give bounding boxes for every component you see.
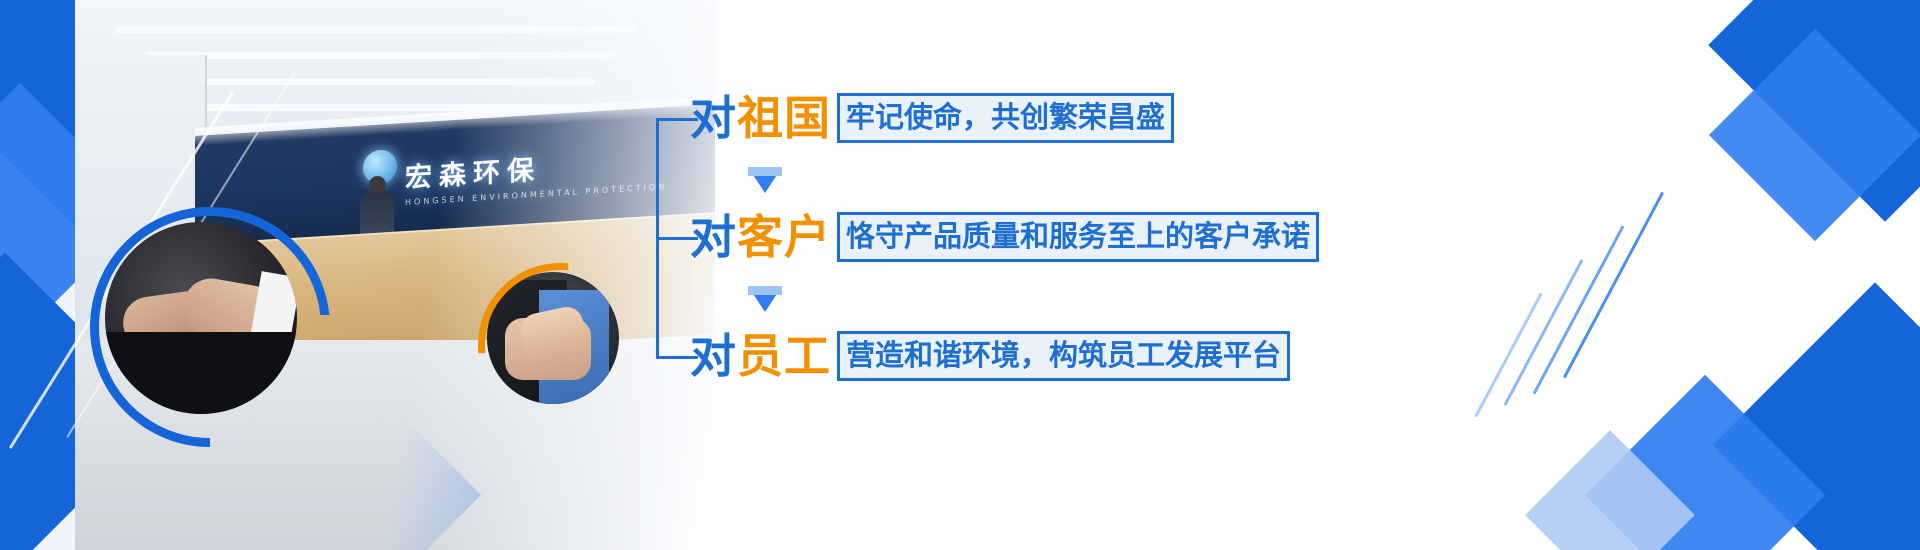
down-arrow-2-icon [748,286,782,312]
value-lead-1-subject: 祖国 [737,91,831,145]
value-lead-3-subject: 员工 [737,329,831,383]
company-values-banner: 宏森环保 HONGSEN ENVIRONMENTAL PROTECTION 对祖… [0,0,1920,550]
deco-stroke-2 [1533,225,1625,394]
value-lead-3: 对员工 [690,333,831,379]
value-lead-2: 对客户 [690,214,831,260]
value-lead-1-prefix: 对 [690,91,737,145]
photo-receptionist [360,190,394,236]
deco-diamond-bottom-right-pale [1525,430,1695,550]
brand-name: 宏森环保 [405,155,541,194]
deco-stroke-1 [1563,192,1664,379]
value-lead-1: 对祖国 [690,95,831,141]
deco-diamond-bottom-right-large [1712,282,1920,550]
down-arrow-1-icon [748,167,782,193]
value-phrase-3: 营造和谐环境，构筑员工发展平台 [837,331,1290,381]
value-phrase-1: 牢记使命，共创繁荣昌盛 [837,93,1174,143]
deco-stroke-3 [1503,259,1583,406]
values-list: 对祖国 牢记使命，共创繁荣昌盛 对客户 恪守产品质量和服务至上的客户承诺 对员工… [648,0,1408,550]
value-lead-2-subject: 客户 [737,210,831,264]
value-row-3: 对员工 营造和谐环境，构筑员工发展平台 [690,327,1290,385]
value-lead-3-prefix: 对 [690,329,737,383]
value-row-1: 对祖国 牢记使命，共创繁荣昌盛 [690,89,1174,147]
deco-diamond-bottom-right-mid [1585,375,1825,550]
value-lead-2-prefix: 对 [690,210,737,264]
value-row-2: 对客户 恪守产品质量和服务至上的客户承诺 [690,208,1319,266]
deco-diamond-top-right-small [1709,29,1920,241]
value-phrase-2: 恪守产品质量和服务至上的客户承诺 [837,212,1319,262]
deco-diamond-top-right-large [1708,0,1920,222]
